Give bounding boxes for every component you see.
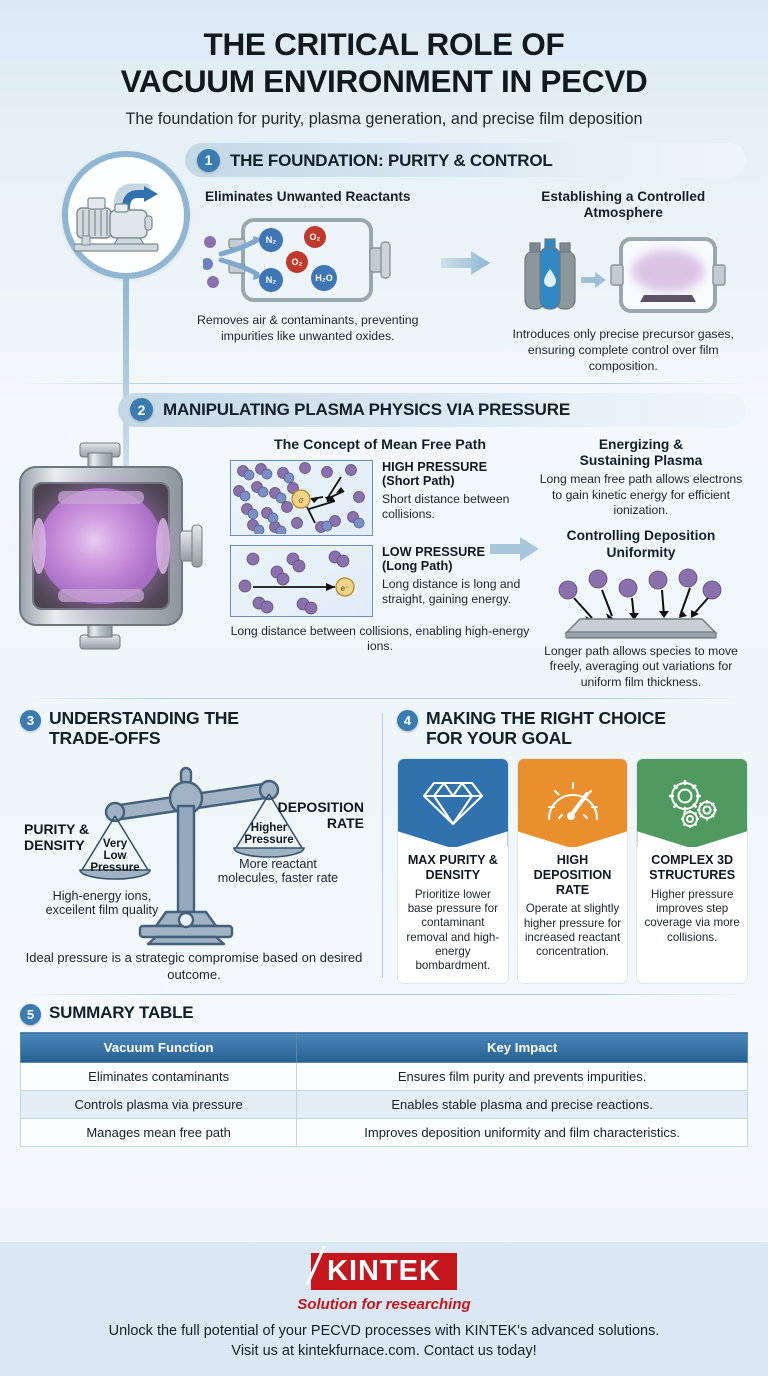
tradeoffs-note: Ideal pressure is a strategic compromise…: [20, 950, 368, 984]
svg-text:Pressure: Pressure: [244, 834, 293, 846]
section-right-choice: 4 MAKING THE RIGHT CHOICE FOR YOUR GOAL …: [397, 709, 748, 984]
high-pressure-desc: Short distance between collisions.: [382, 492, 530, 522]
energizing-plasma-desc: Long mean free path allows electrons to …: [536, 472, 746, 518]
title-line-2: VACUUM ENVIRONMENT IN PECVD: [121, 63, 648, 99]
cell-impact: Enables stable plasma and precise reacti…: [297, 1091, 748, 1119]
cell-function: Manages mean free path: [21, 1119, 297, 1147]
low-pressure-particle-box: e⁻: [230, 545, 373, 617]
divider-1: [22, 383, 746, 384]
section-5-header: 5 SUMMARY TABLE: [20, 1003, 748, 1025]
mean-free-path-note: Long distance between collisions, enabli…: [230, 624, 530, 655]
low-pressure-desc: Long distance is long and straight, gain…: [382, 577, 530, 607]
vertical-divider: [382, 713, 383, 978]
vacuum-pump-icon: [62, 151, 190, 279]
table-row: Manages mean free path Improves depositi…: [21, 1119, 748, 1147]
hero-header: THE CRITICAL ROLE OF VACUUM ENVIRONMENT …: [0, 0, 768, 135]
svg-text:e⁻: e⁻: [341, 584, 350, 593]
section-3-title: UNDERSTANDING THE TRADE-OFFS: [49, 709, 239, 748]
table-header-row: Vacuum Function Key Impact: [21, 1033, 748, 1063]
controlled-atmosphere-heading: Establishing a Controlled Atmosphere: [501, 189, 747, 222]
high-pressure-particle-box: σ: [230, 460, 373, 536]
choice-card-desc: Higher pressure improves step coverage v…: [642, 888, 742, 946]
column-header-vacuum-function: Vacuum Function: [21, 1033, 297, 1063]
plasma-chamber-icon: [6, 439, 226, 654]
svg-text:PURITY &: PURITY &: [24, 821, 89, 837]
section-summary-table: 5 SUMMARY TABLE Vacuum Function Key Impa…: [0, 1003, 768, 1147]
table-row: Controls plasma via pressure Enables sta…: [21, 1091, 748, 1119]
step-badge-3: 3: [20, 710, 41, 731]
svg-text:molecules, faster rate: molecules, faster rate: [218, 871, 338, 885]
section-4-header: 4 MAKING THE RIGHT CHOICE FOR YOUR GOAL: [397, 709, 748, 748]
logo-slash-icon: [306, 1245, 326, 1285]
section-tradeoffs: 3 UNDERSTANDING THE TRADE-OFFS: [20, 709, 368, 984]
choice-card-title: MAX PURITY & DENSITY: [403, 853, 503, 882]
svg-text:Very: Very: [103, 838, 128, 850]
mean-free-path-heading: The Concept of Mean Free Path: [230, 437, 530, 453]
svg-text:RATE: RATE: [327, 815, 364, 831]
section-1-header: 1 THE FOUNDATION: PURITY & CONTROL: [185, 143, 746, 177]
high-pressure-title: HIGH PRESSURE (Short Path): [382, 460, 530, 489]
controlled-atmosphere-block: Establishing a Controlled Atmosphere: [501, 189, 747, 375]
section-1-title: THE FOUNDATION: PURITY & CONTROL: [230, 151, 553, 170]
substrate-deposition-diagram: [536, 568, 746, 640]
cell-function: Eliminates contaminants: [21, 1063, 297, 1091]
divider-3: [22, 994, 746, 995]
svg-text:O₂: O₂: [309, 232, 320, 242]
choice-card-max-purity[interactable]: MAX PURITY & DENSITY Prioritize lower ba…: [397, 758, 509, 983]
svg-text:DENSITY: DENSITY: [24, 837, 85, 853]
svg-text:N₂: N₂: [266, 235, 277, 245]
summary-table: Vacuum Function Key Impact Eliminates co…: [20, 1032, 748, 1147]
deposition-uniformity-title: Controlling Deposition Uniformity: [536, 528, 746, 561]
brand-tagline: Solution for researching: [0, 1296, 768, 1313]
svg-text:More reactant: More reactant: [239, 857, 317, 871]
cell-impact: Improves deposition uniformity and film …: [297, 1119, 748, 1147]
svg-text:N₂: N₂: [266, 275, 277, 285]
choice-card-high-deposition[interactable]: HIGH DEPOSITION RATE Operate at slightly…: [517, 758, 629, 983]
controlled-atmosphere-caption: Introduces only precise precursor gases,…: [501, 327, 747, 375]
mean-free-path-block: The Concept of Mean Free Path: [230, 437, 530, 690]
svg-text:exceilent film quality: exceilent film quality: [46, 903, 159, 917]
section-3-header: 3 UNDERSTANDING THE TRADE-OFFS: [20, 709, 368, 748]
eliminates-reactants-caption: Removes air & contaminants, preventing i…: [185, 313, 431, 345]
section-2-header: 2 MANIPULATING PLASMA PHYSICS VIA PRESSU…: [118, 393, 746, 427]
contaminated-chamber-diagram: N₂ O₂ O₂ N₂ H₂O: [185, 212, 431, 307]
section-2-flow-arrow-icon: [490, 536, 540, 562]
svg-text:σ: σ: [299, 496, 304, 505]
balance-scale-diagram: VeryLowPressure HigherPressure PURITY &D…: [20, 750, 368, 946]
svg-text:Higher: Higher: [251, 822, 288, 834]
deposition-uniformity-block: Controlling Deposition Uniformity: [536, 528, 746, 690]
choice-card-title: HIGH DEPOSITION RATE: [523, 853, 623, 897]
step-badge-4: 4: [397, 710, 418, 731]
gauge-icon: [518, 759, 628, 847]
page-subtitle: The foundation for purity, plasma genera…: [24, 110, 744, 129]
energizing-plasma-block: Energizing & Sustaining Plasma Long mean…: [536, 437, 746, 519]
section-plasma-physics: 2 MANIPULATING PLASMA PHYSICS VIA PRESSU…: [0, 393, 768, 690]
title-line-1: THE CRITICAL ROLE OF: [204, 26, 565, 62]
choice-card-title: COMPLEX 3D STRUCTURES: [642, 853, 742, 882]
section-2-title: MANIPULATING PLASMA PHYSICS VIA PRESSURE: [163, 400, 570, 419]
section-5-title: SUMMARY TABLE: [49, 1003, 193, 1022]
step-badge-5: 5: [20, 1004, 41, 1025]
svg-text:O₂: O₂: [291, 257, 302, 267]
divider-2: [22, 698, 746, 699]
step-badge-2: 2: [130, 398, 153, 421]
logo-text: KINTEK: [327, 1255, 441, 1287]
choice-card-complex-3d[interactable]: COMPLEX 3D STRUCTURES Higher pressure im…: [636, 758, 748, 983]
page-title: THE CRITICAL ROLE OF VACUUM ENVIRONMENT …: [24, 26, 744, 99]
cell-function: Controls plasma via pressure: [21, 1091, 297, 1119]
eliminates-reactants-block: Eliminates Unwanted Reactants N₂: [185, 189, 431, 375]
gears-icon: [637, 759, 747, 847]
energizing-plasma-title: Energizing & Sustaining Plasma: [536, 437, 746, 470]
svg-text:H₂O: H₂O: [315, 273, 333, 283]
eliminates-reactants-heading: Eliminates Unwanted Reactants: [185, 189, 431, 205]
footer: KINTEK Solution for researching Unlock t…: [0, 1242, 768, 1376]
call-to-action: Unlock the full potential of your PECVD …: [0, 1322, 768, 1361]
kintek-logo: KINTEK: [311, 1253, 457, 1290]
choice-card-desc: Operate at slightly higher pressure for …: [523, 902, 623, 960]
deposition-uniformity-desc: Longer path allows species to move freel…: [536, 644, 746, 690]
choice-card-desc: Prioritize lower base pressure for conta…: [403, 888, 503, 974]
table-row: Eliminates contaminants Ensures film pur…: [21, 1063, 748, 1091]
section-4-title: MAKING THE RIGHT CHOICE FOR YOUR GOAL: [426, 709, 666, 748]
cell-impact: Ensures film purity and prevents impurit…: [297, 1063, 748, 1091]
svg-text:High-energy ions,: High-energy ions,: [53, 889, 152, 903]
svg-text:Pressure: Pressure: [90, 862, 139, 874]
diamond-icon: [398, 759, 508, 847]
step-badge-1: 1: [197, 149, 220, 172]
flow-arrow-icon: [439, 189, 493, 375]
column-header-key-impact: Key Impact: [297, 1033, 748, 1063]
svg-text:DEPOSITION: DEPOSITION: [278, 799, 364, 815]
plasma-right-column: Energizing & Sustaining Plasma Long mean…: [536, 437, 746, 690]
gas-supply-chamber-diagram: [501, 229, 747, 321]
section-foundation: 1 THE FOUNDATION: PURITY & CONTROL Elimi…: [0, 143, 768, 375]
svg-text:Low: Low: [104, 850, 127, 862]
